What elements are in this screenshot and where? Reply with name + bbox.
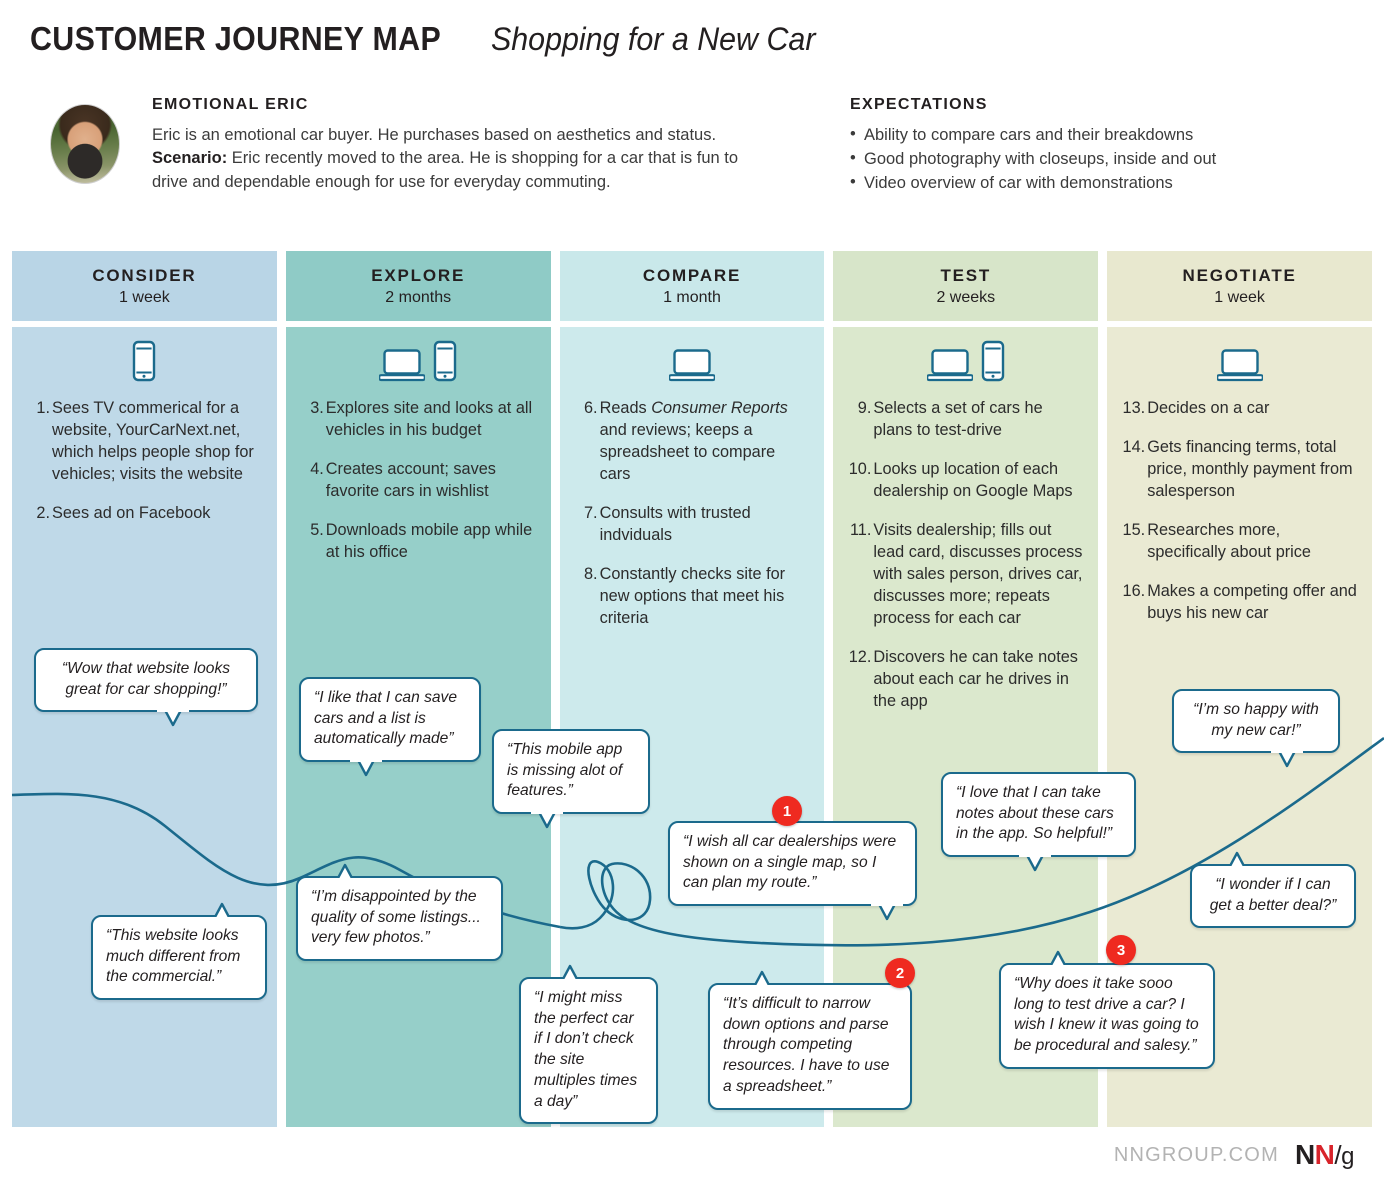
stage-header-compare: COMPARE 1 month: [560, 251, 825, 321]
logo-n1: N: [1295, 1139, 1315, 1170]
expectations-block: EXPECTATIONS Ability to compare cars and…: [850, 96, 1216, 195]
speech-bubble-text: “It’s difficult to narrow down options a…: [723, 995, 889, 1095]
stage-header-explore: EXPLORE 2 months: [286, 251, 551, 321]
step-number: 7.: [574, 502, 598, 524]
speech-bubble-text: “This website looks much different from …: [106, 927, 240, 985]
journey-step-list: 3.Explores site and looks at all vehicle…: [286, 397, 551, 563]
step-text: Sees TV commerical for a website, YourCa…: [52, 399, 254, 483]
pain-point-badge-label: 2: [896, 965, 904, 982]
expectations-list: Ability to compare cars and their breakd…: [850, 124, 1216, 195]
speech-bubble: “I wish all car dealerships were shown o…: [668, 821, 917, 906]
speech-bubble-text: “I’m so happy with my new car!”: [1193, 701, 1319, 739]
step-text: Researches more, specifically about pric…: [1147, 521, 1311, 561]
stage-duration: 1 month: [663, 289, 721, 307]
step-text-after: and reviews; keeps a spreadsheet to comp…: [600, 421, 776, 483]
step-text: Makes a competing offer and buys his new…: [1147, 582, 1357, 622]
step-number: 4.: [300, 458, 324, 480]
speech-bubble-text: “I wish all car dealerships were shown o…: [683, 833, 896, 891]
expectation-item: Good photography with closeups, inside a…: [850, 148, 1216, 172]
persona-block: EMOTIONAL ERIC Eric is an emotional car …: [30, 96, 840, 194]
stage-header-test: TEST 2 weeks: [833, 251, 1098, 321]
pain-point-badge: 2: [885, 958, 915, 988]
step-text: Sees ad on Facebook: [52, 504, 210, 522]
speech-bubble: “Why does it take sooo long to test driv…: [999, 963, 1215, 1069]
speech-bubble-text: “I like that I can save cars and a list …: [314, 689, 457, 747]
step-number: 3.: [300, 397, 324, 419]
step-text: Reads: [600, 399, 652, 417]
step-number: 6.: [574, 397, 598, 419]
stage-duration: 2 weeks: [936, 289, 995, 307]
pain-point-badge-label: 1: [783, 803, 791, 820]
journey-step: 1.Sees TV commerical for a website, Your…: [26, 397, 263, 485]
bubble-tail: [205, 902, 233, 917]
step-text: Constantly checks site for new options t…: [600, 565, 786, 627]
persona-scenario-label: Scenario:: [152, 149, 227, 167]
journey-step: 2.Sees ad on Facebook: [26, 502, 263, 524]
journey-step: 3.Explores site and looks at all vehicle…: [300, 397, 537, 441]
step-number: 13.: [1121, 397, 1145, 419]
step-text: Downloads mobile app while at his office: [326, 521, 532, 561]
bubble-tail: [1018, 855, 1046, 870]
stage-column-consider: 1.Sees TV commerical for a website, Your…: [12, 327, 277, 1127]
logo-n2: N: [1315, 1139, 1335, 1170]
bubble-tail: [349, 760, 377, 775]
stage-devices: [1107, 339, 1372, 387]
stage-header-row: CONSIDER 1 weekEXPLORE 2 monthsCOMPARE 1…: [12, 251, 1372, 321]
speech-bubble-text: “I might miss the perfect car if I don’t…: [534, 989, 637, 1110]
journey-step-list: 1.Sees TV commerical for a website, Your…: [12, 397, 277, 524]
laptop-icon: [927, 348, 973, 387]
speech-bubble: “This website looks much different from …: [91, 915, 267, 1000]
stage-name: CONSIDER: [92, 266, 196, 286]
journey-step: 5.Downloads mobile app while at his offi…: [300, 519, 537, 563]
speech-bubble: “This mobile app is missing alot of feat…: [492, 729, 650, 814]
laptop-icon: [669, 348, 715, 387]
bubble-tail: [745, 970, 773, 985]
journey-step: 6.Reads Consumer Reports and reviews; ke…: [574, 397, 811, 485]
journey-step: 8.Constantly checks site for new options…: [574, 563, 811, 629]
stage-devices: [12, 339, 277, 387]
step-text: Discovers he can take notes about each c…: [873, 648, 1078, 710]
step-number: 1.: [26, 397, 50, 419]
stage-name: TEST: [940, 266, 991, 286]
journey-step: 10.Looks up location of each dealership …: [847, 458, 1084, 502]
speech-bubble: “Wow that website looks great for car sh…: [34, 648, 258, 712]
speech-bubble: “I’m disappointed by the quality of some…: [296, 876, 503, 961]
expectation-item: Ability to compare cars and their breakd…: [850, 124, 1216, 148]
bubble-tail: [156, 710, 184, 725]
speech-bubble-text: “Why does it take sooo long to test driv…: [1014, 975, 1199, 1054]
journey-step: 15.Researches more, specifically about p…: [1121, 519, 1358, 563]
journey-step: 4.Creates account; saves favorite cars i…: [300, 458, 537, 502]
journey-step-list: 9.Selects a set of cars he plans to test…: [833, 397, 1098, 712]
step-text: Consults with trusted indviduals: [600, 504, 751, 544]
stage-name: NEGOTIATE: [1183, 266, 1297, 286]
step-text-italic: Consumer Reports: [651, 399, 788, 417]
bubble-tail: [1270, 751, 1298, 766]
step-number: 9.: [847, 397, 871, 419]
speech-bubble-text: “Wow that website looks great for car sh…: [62, 660, 230, 698]
laptop-icon: [379, 348, 425, 387]
step-text: Selects a set of cars he plans to test-d…: [873, 399, 1042, 439]
stage-devices: [286, 339, 551, 387]
step-number: 2.: [26, 502, 50, 524]
nng-logo: NN/g: [1295, 1139, 1354, 1171]
pain-point-badge-label: 3: [1117, 942, 1125, 959]
journey-step: 9.Selects a set of cars he plans to test…: [847, 397, 1084, 441]
expectations-heading: EXPECTATIONS: [850, 96, 1216, 114]
pain-point-badge: 3: [1106, 935, 1136, 965]
stage-duration: 1 week: [119, 289, 170, 307]
step-number: 11.: [847, 519, 871, 541]
stage-header-consider: CONSIDER 1 week: [12, 251, 277, 321]
step-text: Visits dealership; fills out lead card, …: [873, 521, 1082, 627]
phone-icon: [433, 340, 457, 387]
stage-name: COMPARE: [643, 266, 741, 286]
page-title: CUSTOMER JOURNEY MAP Shopping for a New …: [30, 20, 832, 58]
expectation-item: Video overview of car with demonstration…: [850, 172, 1216, 196]
stage-duration: 1 week: [1214, 289, 1265, 307]
journey-step: 16.Makes a competing offer and buys his …: [1121, 580, 1358, 624]
step-number: 14.: [1121, 436, 1145, 458]
journey-step: 7.Consults with trusted indviduals: [574, 502, 811, 546]
footer-url: NNGROUP.COM: [1114, 1144, 1279, 1167]
bubble-tail: [1041, 950, 1069, 965]
logo-g: g: [1341, 1143, 1354, 1170]
stage-header-negotiate: NEGOTIATE 1 week: [1107, 251, 1372, 321]
bubble-tail: [553, 964, 581, 979]
bubble-tail: [328, 863, 356, 878]
speech-bubble: “I like that I can save cars and a list …: [299, 677, 481, 762]
step-number: 12.: [847, 646, 871, 668]
page-title-main: CUSTOMER JOURNEY MAP: [30, 20, 441, 58]
bubble-tail: [530, 812, 558, 827]
step-number: 15.: [1121, 519, 1145, 541]
speech-bubble: “I might miss the perfect car if I don’t…: [519, 977, 658, 1124]
avatar: [50, 104, 120, 184]
step-number: 5.: [300, 519, 324, 541]
speech-bubble-text: “I wonder if I can get a better deal?”: [1210, 876, 1337, 914]
step-text: Creates account; saves favorite cars in …: [326, 460, 496, 500]
page-title-subtitle: Shopping for a New Car: [491, 21, 815, 58]
step-text: Explores site and looks at all vehicles …: [326, 399, 532, 439]
speech-bubble: “I’m so happy with my new car!”: [1172, 689, 1340, 753]
persona-scenario-text: Eric recently moved to the area. He is s…: [152, 149, 738, 190]
step-number: 16.: [1121, 580, 1145, 602]
step-text: Gets financing terms, total price, month…: [1147, 438, 1352, 500]
journey-step: 13.Decides on a car: [1121, 397, 1358, 419]
pain-point-badge: 1: [772, 796, 802, 826]
laptop-icon: [1217, 348, 1263, 387]
persona-line1: Eric is an emotional car buyer. He purch…: [152, 126, 716, 144]
stage-devices: [833, 339, 1098, 387]
speech-bubble: “I wonder if I can get a better deal?”: [1190, 864, 1356, 928]
stage-name: EXPLORE: [371, 266, 465, 286]
footer: NNGROUP.COM NN/g: [1114, 1139, 1354, 1171]
journey-step-list: 6.Reads Consumer Reports and reviews; ke…: [560, 397, 825, 629]
phone-icon: [132, 340, 156, 387]
stage-duration: 2 months: [385, 289, 451, 307]
persona-text: EMOTIONAL ERIC Eric is an emotional car …: [152, 96, 752, 194]
speech-bubble: “It’s difficult to narrow down options a…: [708, 983, 912, 1110]
speech-bubble: “I love that I can take notes about thes…: [941, 772, 1136, 857]
phone-icon: [981, 340, 1005, 387]
stage-devices: [560, 339, 825, 387]
persona-description: Eric is an emotional car buyer. He purch…: [152, 124, 752, 194]
persona-heading: EMOTIONAL ERIC: [152, 96, 752, 114]
persona-and-expectations: EMOTIONAL ERIC Eric is an emotional car …: [30, 96, 1354, 195]
step-number: 8.: [574, 563, 598, 585]
journey-step-list: 13.Decides on a car 14.Gets financing te…: [1107, 397, 1372, 624]
bubble-tail: [1220, 851, 1248, 866]
step-number: 10.: [847, 458, 871, 480]
speech-bubble-text: “I’m disappointed by the quality of some…: [311, 888, 481, 946]
journey-step: 12.Discovers he can take notes about eac…: [847, 646, 1084, 712]
step-text: Looks up location of each dealership on …: [873, 460, 1072, 500]
speech-bubble-text: “This mobile app is missing alot of feat…: [507, 741, 622, 799]
bubble-tail: [870, 904, 898, 919]
step-text: Decides on a car: [1147, 399, 1269, 417]
journey-step: 11.Visits dealership; fills out lead car…: [847, 519, 1084, 629]
speech-bubble-text: “I love that I can take notes about thes…: [956, 784, 1114, 842]
journey-step: 14.Gets financing terms, total price, mo…: [1121, 436, 1358, 502]
